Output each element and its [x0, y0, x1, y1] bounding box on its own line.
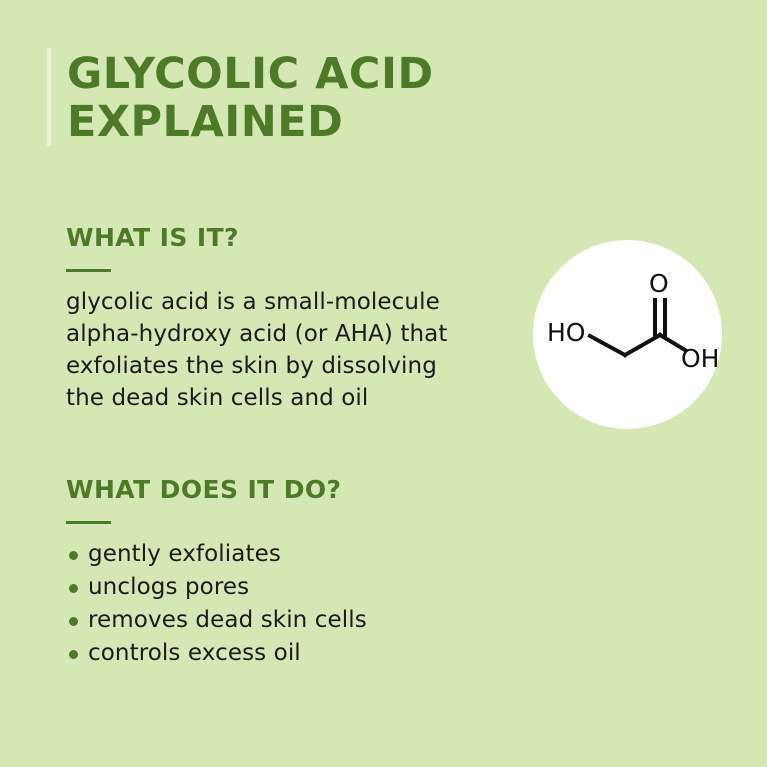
list-item-label: unclogs pores — [88, 574, 249, 600]
heading-underline — [66, 269, 111, 272]
bullet-dot-icon — [69, 617, 78, 626]
section-what-is-it: WHAT IS IT? glycolic acid is a small-mol… — [66, 224, 496, 414]
section-heading-what-does-it-do: WHAT DOES IT DO? — [66, 476, 496, 504]
title-text: GLYCOLIC ACID EXPLAINED — [67, 48, 434, 146]
list-item: unclogs pores — [66, 571, 496, 604]
list-item: controls excess oil — [66, 637, 496, 670]
page-title: GLYCOLIC ACID EXPLAINED — [47, 48, 434, 146]
heading-underline — [66, 521, 111, 524]
bullet-dot-icon — [69, 551, 78, 560]
molecule-badge: HO O OH — [533, 240, 722, 429]
list-item: removes dead skin cells — [66, 604, 496, 637]
molecule-label-ho: HO — [547, 318, 585, 347]
list-item-label: gently exfoliates — [88, 541, 281, 567]
bullet-dot-icon — [69, 650, 78, 659]
what-is-it-paragraph: glycolic acid is a small-molecule alpha-… — [66, 286, 496, 414]
molecule-label-o: O — [649, 269, 669, 298]
section-what-does-it-do: WHAT DOES IT DO? gently exfoliates unclo… — [66, 476, 496, 670]
list-item-label: controls excess oil — [88, 640, 301, 666]
molecule-label-oh: OH — [681, 344, 719, 373]
glycolic-acid-molecule-icon: HO O OH — [533, 240, 722, 429]
bullet-dot-icon — [69, 584, 78, 593]
list-item: gently exfoliates — [66, 538, 496, 571]
infographic-poster: GLYCOLIC ACID EXPLAINED WHAT IS IT? glyc… — [0, 0, 767, 767]
title-accent-bar — [47, 48, 51, 146]
section-heading-what-is-it: WHAT IS IT? — [66, 224, 496, 252]
list-item-label: removes dead skin cells — [88, 607, 367, 633]
benefits-list: gently exfoliates unclogs pores removes … — [66, 538, 496, 670]
